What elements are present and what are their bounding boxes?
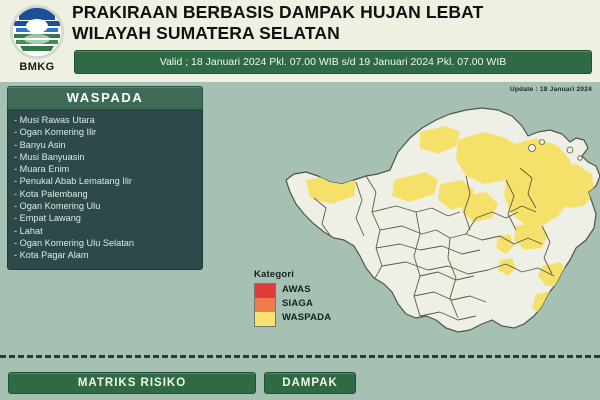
title-line-2: WILAYAH SUMATERA SELATAN (72, 23, 594, 44)
page-title: PRAKIRAAN BERBASIS DAMPAK HUJAN LEBAT WI… (72, 2, 594, 44)
waspada-region-panel: WASPADA Musi Rawas UtaraOgan Komering Il… (7, 86, 203, 270)
waspada-region-item: Penukal Abab Lematang Ilir (14, 175, 202, 187)
waspada-region-item: Lahat (14, 225, 202, 237)
sumatera-selatan-map[interactable] (270, 88, 600, 388)
waspada-region-item: Banyu Asin (14, 139, 202, 151)
bmkg-logo-text: BMKG (6, 61, 68, 73)
legend-label-column: AWASSIAGAWASPADA (282, 283, 362, 325)
waspada-region-item: Musi Rawas Utara (14, 114, 202, 126)
waspada-region-item: Ogan Komering Ulu (14, 200, 202, 212)
waspada-region-item: Empat Lawang (14, 212, 202, 224)
waspada-region-item: Ogan Komering Ulu Selatan (14, 237, 202, 249)
waspada-region-item: Muara Enim (14, 163, 202, 175)
legend-title: Kategori (254, 269, 362, 280)
impact-forecast-infographic: BMKG PRAKIRAAN BERBASIS DAMPAK HUJAN LEB… (0, 0, 600, 400)
map-legend: Kategori AWASSIAGAWASPADA (252, 269, 362, 325)
legend-swatch-awas (255, 284, 275, 298)
validity-period-banner: Valid ; 18 Januari 2024 Pkl. 07.00 WIB s… (74, 50, 592, 74)
waspada-region-item: Musi Banyuasin (14, 151, 202, 163)
bmkg-circular-emblem-icon (10, 5, 64, 59)
content-area: Update : 18 Januari 2024 WASPADA Musi Ra… (0, 82, 600, 400)
waspada-panel-body: Musi Rawas UtaraOgan Komering IlirBanyu … (7, 109, 203, 270)
legend-swatch-waspada (255, 312, 275, 326)
waspada-region-item: Ogan Komering Ilir (14, 126, 202, 138)
legend-rows: AWASSIAGAWASPADA (252, 283, 362, 325)
legend-label-waspada: WASPADA (282, 311, 362, 325)
title-line-1: PRAKIRAAN BERBASIS DAMPAK HUJAN LEBAT (72, 2, 594, 23)
waspada-region-item: Kota Pagar Alam (14, 249, 202, 261)
legend-label-siaga: SIAGA (282, 297, 362, 311)
bmkg-logo: BMKG (6, 3, 68, 79)
waspada-panel-heading: WASPADA (7, 86, 203, 109)
legend-swatch-column (254, 283, 276, 327)
legend-swatch-siaga (255, 298, 275, 312)
waspada-region-list: Musi Rawas UtaraOgan Komering IlirBanyu … (8, 114, 202, 262)
dampak-button[interactable]: DAMPAK (264, 372, 356, 394)
footer-divider (0, 355, 600, 358)
waspada-region-item: Kota Palembang (14, 188, 202, 200)
matriks-risiko-button[interactable]: MATRIKS RISIKO (8, 372, 256, 394)
header-bar: BMKG PRAKIRAAN BERBASIS DAMPAK HUJAN LEB… (0, 0, 600, 82)
legend-label-awas: AWAS (282, 283, 362, 297)
update-timestamp: Update : 18 Januari 2024 (510, 86, 592, 93)
